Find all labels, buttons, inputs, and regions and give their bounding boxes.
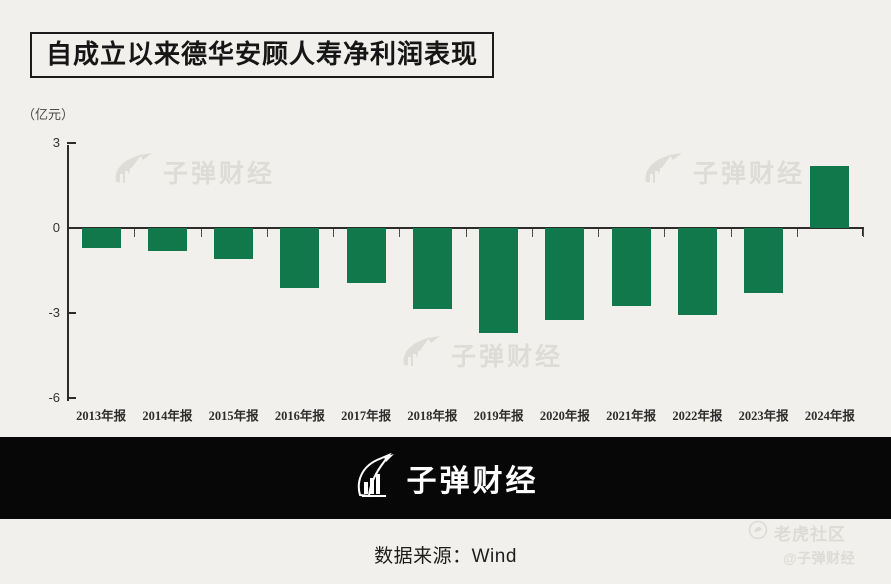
x-axis-label: 2023年报 <box>731 405 797 424</box>
x-axis-label: 2022年报 <box>664 405 730 424</box>
y-axis-unit-label: （亿元） <box>22 104 74 123</box>
x-axis-label: 2021年报 <box>598 405 664 424</box>
bar[interactable] <box>148 228 187 251</box>
bar[interactable] <box>347 228 386 283</box>
x-axis-label: 2020年报 <box>532 405 598 424</box>
bar[interactable] <box>413 228 452 309</box>
bar[interactable] <box>545 228 584 320</box>
bar-chart: 30-3-6 子弹财经 <box>0 130 891 430</box>
footer-brand-band: 子弹财经 <box>0 437 891 519</box>
chart-page: 自成立以来德华安顾人寿净利润表现 （亿元） 30-3-6 子弹财经 <box>0 0 891 584</box>
bar[interactable] <box>479 228 518 333</box>
page-title: 自成立以来德华安顾人寿净利润表现 <box>30 32 494 78</box>
bar[interactable] <box>678 228 717 315</box>
x-axis-label: 2024年报 <box>797 405 863 424</box>
watermark-handle: @子弹财经 <box>783 548 855 568</box>
bar[interactable] <box>82 228 121 248</box>
bullet-chart-logo-icon <box>353 453 397 504</box>
x-axis-label: 2013年报 <box>68 405 134 424</box>
bar[interactable] <box>280 228 319 288</box>
bar[interactable] <box>612 228 651 306</box>
footer-logo-text: 子弹财经 <box>407 456 539 500</box>
x-axis-label: 2017年报 <box>333 405 399 424</box>
x-axis-label: 2014年报 <box>134 405 200 424</box>
watermark-tiger-text: 老虎社区 <box>774 520 846 545</box>
x-axis-label: 2015年报 <box>201 405 267 424</box>
x-axis-label: 2019年报 <box>466 405 532 424</box>
footer-logo: 子弹财经 <box>353 453 539 504</box>
x-axis-label: 2018年报 <box>399 405 465 424</box>
bar-series <box>0 130 891 430</box>
data-source-text: 数据来源：Wind <box>0 541 891 568</box>
x-axis-labels: 2013年报2014年报2015年报2016年报2017年报2018年报2019… <box>0 405 891 427</box>
page-title-text: 自成立以来德华安顾人寿净利润表现 <box>46 41 478 67</box>
bar[interactable] <box>744 228 783 293</box>
bar[interactable] <box>810 166 849 228</box>
bar[interactable] <box>214 228 253 259</box>
x-axis-label: 2016年报 <box>267 405 333 424</box>
tiger-circle-icon <box>748 520 768 545</box>
watermark-tiger-community: 老虎社区 <box>748 520 846 545</box>
